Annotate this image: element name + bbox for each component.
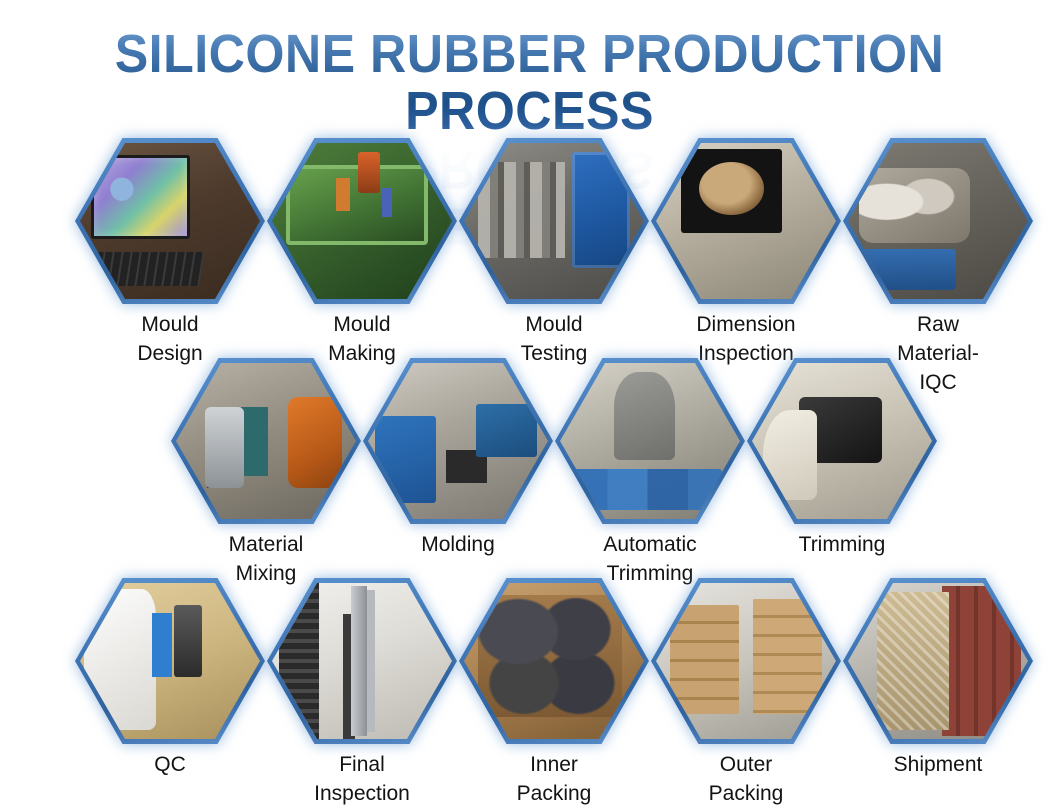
process-step-mould-design[interactable]: Mould Design [75, 138, 265, 369]
hexagon-tile-qc[interactable] [75, 578, 265, 744]
process-step-qc[interactable]: QC [75, 578, 265, 780]
hexagon-tile-raw-material-iqc[interactable] [843, 138, 1033, 304]
process-step-inner-packing[interactable]: Inner Packing [459, 578, 649, 809]
process-step-material-mixing[interactable]: Material Mixing [171, 358, 361, 589]
hexagon-tile-automatic-trimming[interactable] [555, 358, 745, 524]
hexagon-tile-shipment[interactable] [843, 578, 1033, 744]
process-step-mould-making[interactable]: Mould Making [267, 138, 457, 369]
process-hexagon-grid: Mould DesignMould MakingMould TestingDim… [0, 0, 1059, 797]
process-step-dimension-inspection[interactable]: Dimension Inspection [651, 138, 841, 369]
step-label-inner-packing: Inner Packing [459, 751, 649, 809]
process-step-final-inspection[interactable]: Final Inspection [267, 578, 457, 809]
hexagon-tile-material-mixing[interactable] [171, 358, 361, 524]
process-step-trimming[interactable]: Trimming [747, 358, 937, 560]
hexagon-tile-inner-packing[interactable] [459, 578, 649, 744]
hexagon-tile-trimming[interactable] [747, 358, 937, 524]
hexagon-tile-molding[interactable] [363, 358, 553, 524]
step-label-final-inspection: Final Inspection [267, 751, 457, 809]
hexagon-tile-mould-making[interactable] [267, 138, 457, 304]
step-label-qc: QC [75, 751, 265, 780]
step-label-molding: Molding [363, 531, 553, 560]
hexagon-tile-dimension-inspection[interactable] [651, 138, 841, 304]
step-label-shipment: Shipment [843, 751, 1033, 780]
hexagon-tile-final-inspection[interactable] [267, 578, 457, 744]
hexagon-tile-outer-packing[interactable] [651, 578, 841, 744]
process-step-mould-testing[interactable]: Mould Testing [459, 138, 649, 369]
process-step-automatic-trimming[interactable]: Automatic Trimming [555, 358, 745, 589]
hexagon-tile-mould-testing[interactable] [459, 138, 649, 304]
step-label-trimming: Trimming [747, 531, 937, 560]
process-step-shipment[interactable]: Shipment [843, 578, 1033, 780]
process-step-outer-packing[interactable]: Outer Packing [651, 578, 841, 809]
step-label-outer-packing: Outer Packing [651, 751, 841, 809]
process-step-molding[interactable]: Molding [363, 358, 553, 560]
hexagon-tile-mould-design[interactable] [75, 138, 265, 304]
